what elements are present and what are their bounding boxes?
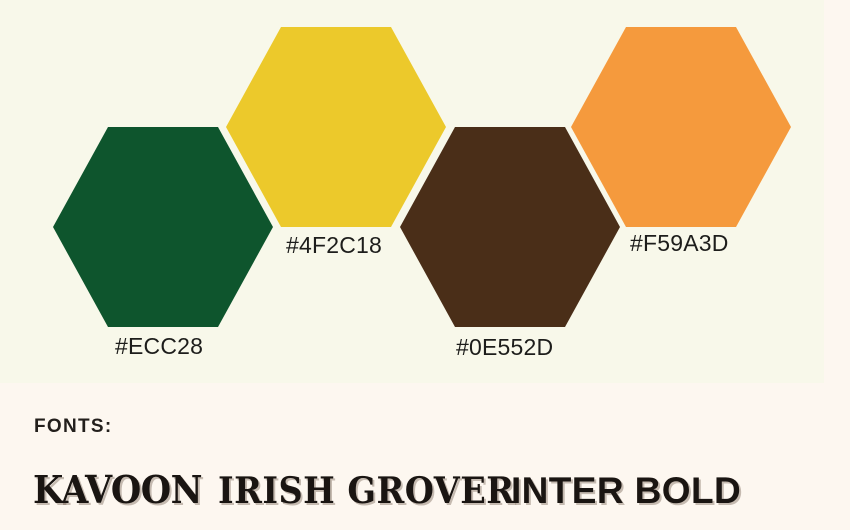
fonts-heading: FONTS: bbox=[34, 416, 113, 438]
color-hex-label-forest-green: #ECC28 bbox=[115, 333, 203, 360]
fonts-section: FONTS: KAVOON IRISH GROVER INTER BOLD bbox=[0, 383, 850, 530]
color-palette-panel: #ECC28 #4F2C18 #0E552D #F59A3D bbox=[0, 0, 824, 383]
color-hex-label-golden-yellow: #4F2C18 bbox=[286, 232, 382, 259]
color-swatch-dark-brown[interactable] bbox=[400, 127, 620, 327]
font-specimen-irish-grover: IRISH GROVER bbox=[218, 470, 515, 512]
color-swatch-warm-orange[interactable] bbox=[571, 27, 791, 227]
font-specimen-kavoon: KAVOON bbox=[33, 467, 202, 512]
color-hex-label-warm-orange: #F59A3D bbox=[630, 230, 729, 257]
color-swatch-golden-yellow[interactable] bbox=[226, 27, 446, 227]
font-specimen-inter-bold: INTER BOLD bbox=[511, 470, 741, 512]
color-hex-label-dark-brown: #0E552D bbox=[456, 334, 553, 361]
color-swatch-forest-green[interactable] bbox=[53, 127, 273, 327]
